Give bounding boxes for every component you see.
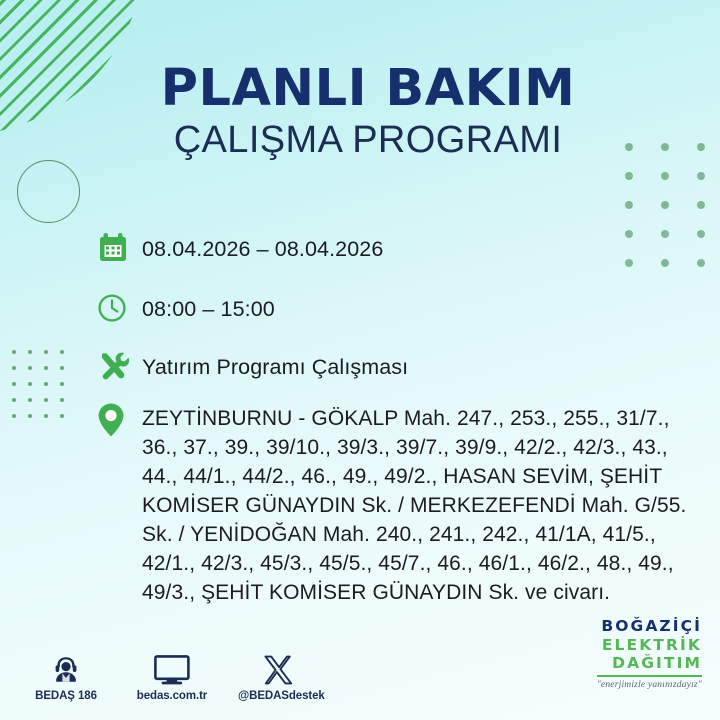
dot — [60, 398, 64, 402]
maintenance-details-list: 08.04.2026 – 08.04.2026 08:00 – 15:00 — [96, 226, 708, 622]
dot — [625, 172, 633, 180]
dot — [60, 366, 64, 370]
monitor-website-icon — [132, 650, 212, 686]
calendar-icon — [96, 226, 142, 270]
circle-outline-decoration — [17, 160, 80, 223]
dot — [28, 382, 32, 386]
contact-channels: BEDAŞ 186 bedas.com.tr — [26, 650, 318, 704]
dot — [44, 350, 48, 354]
brand-line-dagitim: DAĞITIM — [597, 656, 702, 677]
headset-support-icon — [26, 650, 106, 686]
page-title: PLANLI BAKIM — [0, 62, 720, 115]
dot — [697, 172, 705, 180]
dot — [28, 366, 32, 370]
tools-icon — [96, 344, 142, 388]
contact-item-x[interactable]: @BEDASdestek — [238, 650, 318, 704]
dot — [12, 366, 16, 370]
dot — [60, 414, 64, 418]
brand-line-bogazici: BOĞAZİÇİ — [597, 619, 702, 635]
contact-label-call-center: BEDAŞ 186 — [35, 690, 97, 702]
dot — [12, 398, 16, 402]
contact-label-x: @BEDASdestek — [238, 690, 325, 702]
contact-item-website[interactable]: bedas.com.tr — [132, 650, 212, 704]
poster-header: PLANLI BAKIM ÇALIŞMA PROGRAMI — [0, 62, 720, 162]
planned-maintenance-poster: PLANLI BAKIM ÇALIŞMA PROGRAMI — [0, 0, 720, 720]
detail-row-date: 08.04.2026 – 08.04.2026 — [96, 226, 708, 270]
dot — [625, 201, 633, 209]
detail-row-work-type: Yatırım Programı Çalışması — [96, 344, 708, 388]
dot — [12, 382, 16, 386]
contact-item-call-center[interactable]: BEDAŞ 186 — [26, 650, 106, 704]
dot — [661, 172, 669, 180]
dot — [12, 350, 16, 354]
dot — [44, 414, 48, 418]
dot — [44, 366, 48, 370]
dot — [697, 201, 705, 209]
dot — [661, 201, 669, 209]
dot — [44, 398, 48, 402]
location-value: ZEYTİNBURNU - GÖKALP Mah. 247., 253., 25… — [142, 400, 708, 608]
dot — [28, 350, 32, 354]
poster-footer: BEDAŞ 186 bedas.com.tr — [0, 632, 720, 704]
brand-tagline: "enerjimizle yanınızdayız" — [597, 681, 702, 691]
dot — [28, 398, 32, 402]
bedas-logo: BOĞAZİÇİ ELEKTRİK DAĞITIM "enerjimizle y… — [597, 619, 702, 690]
brand-line-elektrik: ELEKTRİK — [597, 638, 702, 654]
dot — [28, 414, 32, 418]
work-type-value: Yatırım Programı Çalışması — [142, 344, 408, 382]
clock-icon — [96, 286, 142, 330]
page-subtitle: ÇALIŞMA PROGRAMI — [0, 119, 720, 162]
dot — [44, 382, 48, 386]
date-range-value: 08.04.2026 – 08.04.2026 — [142, 226, 383, 264]
map-pin-icon — [96, 400, 142, 440]
dot — [60, 382, 64, 386]
dot — [60, 350, 64, 354]
detail-row-location: ZEYTİNBURNU - GÖKALP Mah. 247., 253., 25… — [96, 400, 708, 608]
detail-row-time: 08:00 – 15:00 — [96, 286, 708, 330]
time-range-value: 08:00 – 15:00 — [142, 286, 275, 324]
x-twitter-icon — [238, 650, 318, 686]
contact-label-website: bedas.com.tr — [137, 690, 207, 702]
dot — [12, 414, 16, 418]
